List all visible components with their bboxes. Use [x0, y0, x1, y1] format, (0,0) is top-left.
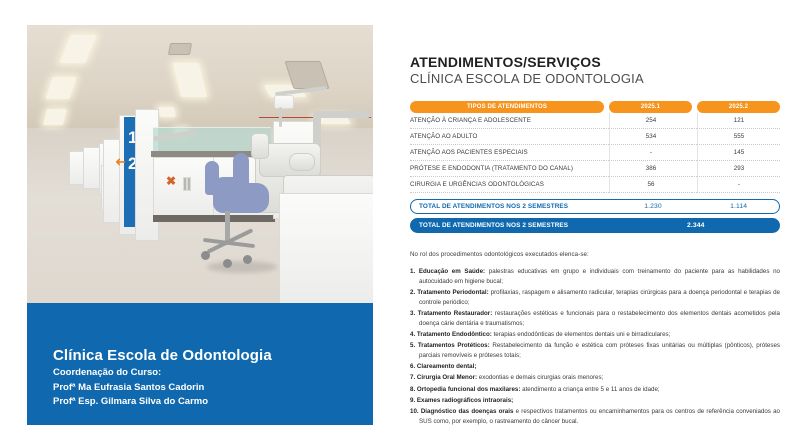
column-header-2025-1: 2025.1 [609, 101, 692, 113]
clinic-name: Clínica Escola de Odontologia [53, 347, 373, 364]
list-item-term: Tratamentos Protéticos: [418, 342, 490, 349]
coordinator-name-2: Profª Esp. Gilmara Silva do Carmo [53, 395, 373, 409]
list-item: 3. Tratamento Restaurador: restaurações … [410, 309, 780, 329]
list-item-term: Exames radiográficos intraorais; [417, 397, 513, 404]
list-item: 9. Exames radiográficos intraorais; [410, 396, 780, 406]
row-label: ATENÇÃO À CRIANÇA E ADOLESCENTE [410, 113, 604, 129]
list-item-number: 8. [410, 386, 415, 393]
left-panel: 1 ➜ 2 ➜ ✖ [27, 25, 373, 425]
procedures-intro: No rol dos procedimentos odontológicos e… [410, 251, 780, 258]
column-header-types-label: TIPOS DE ATENDIMENTOS [410, 101, 604, 113]
row-label: PRÓTESE E ENDODONTIA (TRATAMENTO DO CANA… [410, 161, 604, 177]
row-value-2025-1: 254 [609, 113, 692, 129]
photo-dental-chair [251, 133, 269, 159]
photo-chair-rail [313, 111, 371, 118]
list-item-number: 3. [410, 310, 415, 317]
photo-ceiling-vent [168, 43, 192, 55]
list-item: 8. Ortopedia funcional dos maxilares: at… [410, 385, 780, 395]
coordination-label: Coordenação do Curso: [53, 367, 373, 378]
procedures-list: 1. Educação em Saúde: palestras educativ… [410, 267, 780, 427]
grand-total-row: TOTAL DE ATENDIMENTOS NOS 2 SEMESTRES 2.… [410, 218, 780, 233]
photo-ceiling-lamp [43, 109, 67, 125]
page-title: ATENDIMENTOS/SERVIÇOS [410, 54, 780, 70]
table-row: ATENÇÃO AOS PACIENTES ESPECIAIS - 145 [410, 145, 780, 161]
page-subtitle: CLÍNICA ESCOLA DE ODONTOLOGIA [410, 71, 780, 86]
subtotal-value-2025-1: 1.230 [613, 203, 694, 210]
column-header-2025-2: 2025.2 [697, 101, 780, 113]
list-item: 4. Tratamento Endodôntico: terapias endo… [410, 330, 780, 340]
list-item-number: 10. [410, 408, 419, 415]
services-table: TIPOS DE ATENDIMENTOS 2025.1 2025.2 ATEN… [410, 101, 780, 193]
list-item-term: Clareamento dental; [417, 363, 476, 370]
photo-arrow-left-icon: ➜ [115, 155, 126, 168]
subtotal-value-2025-2: 1.114 [698, 203, 779, 210]
list-item: 6. Clareamento dental; [410, 362, 780, 372]
clinic-photo: 1 ➜ 2 ➜ ✖ [27, 25, 373, 303]
row-value-2025-1: - [609, 145, 692, 161]
table-row: ATENÇÃO AO ADULTO 534 555 [410, 129, 780, 145]
column-header-types: TIPOS DE ATENDIMENTOS [410, 101, 604, 113]
grand-total-value: 2.344 [613, 222, 779, 229]
list-item-number: 4. [410, 331, 415, 338]
photo-stool-seat [227, 183, 269, 213]
photo-dental-unit [289, 153, 315, 171]
table-row: ATENÇÃO À CRIANÇA E ADOLESCENTE 254 121 [410, 113, 780, 129]
list-item: 7. Cirurgia Oral Menor: exodontias e dem… [410, 373, 780, 383]
clinic-caption-block: Clínica Escola de Odontologia Coordenaçã… [27, 303, 373, 425]
list-item-text: terapias endodônticas de elementos denta… [492, 331, 671, 338]
row-value-2025-2: 555 [697, 129, 780, 145]
photo-cabinet [279, 193, 373, 303]
list-item-term: Tratamento Endodôntico: [417, 331, 492, 338]
row-label: CIRURGIA E URGÊNCIAS ODONTOLÓGICAS [410, 177, 604, 193]
grand-total-label: TOTAL DE ATENDIMENTOS NOS 2 SEMESTRES [411, 222, 608, 229]
row-value-2025-1: 386 [609, 161, 692, 177]
list-item: 2. Tratamento Periodontal: profilaxias, … [410, 288, 780, 308]
coordinator-name-1: Profª Ma Eufrasia Santos Cadorin [53, 381, 373, 395]
list-item-text: atendimento a criança entre 5 e 11 anos … [520, 386, 659, 393]
list-item-number: 5. [410, 342, 415, 349]
row-value-2025-2: 293 [697, 161, 780, 177]
list-item-term: Educação em Saúde: [419, 268, 485, 275]
row-value-2025-1: 534 [609, 129, 692, 145]
row-value-2025-2: 145 [697, 145, 780, 161]
photo-stool-wheel [201, 251, 210, 260]
photo-ceiling-lamp [158, 107, 176, 117]
subtotal-label: TOTAL DE ATENDIMENTOS NOS 2 SEMESTRES [411, 203, 608, 210]
subtotal-row: TOTAL DE ATENDIMENTOS NOS 2 SEMESTRES 1.… [410, 199, 780, 214]
list-item-term: Tratamento Periodontal: [417, 289, 488, 296]
photo-overhead-light-post [279, 107, 282, 127]
list-item-number: 1. [410, 268, 415, 275]
photo-stool-wheel [223, 259, 232, 268]
column-header-2025-2-label: 2025.2 [697, 101, 780, 113]
right-content: ATENDIMENTOS/SERVIÇOS CLÍNICA ESCOLA DE … [410, 54, 780, 428]
list-item-text: exodontias e demais cirurgias orais meno… [477, 374, 603, 381]
list-item-number: 2. [410, 289, 415, 296]
list-item: 5. Tratamentos Protéticos: Restabelecime… [410, 341, 780, 361]
list-item-number: 7. [410, 374, 415, 381]
table-row: PRÓTESE E ENDODONTIA (TRATAMENTO DO CANA… [410, 161, 780, 177]
list-item: 1. Educação em Saúde: palestras educativ… [410, 267, 780, 287]
photo-warning-x-icon: ✖ [166, 175, 176, 187]
photo-toe-kick [153, 215, 275, 222]
column-header-2025-1-label: 2025.1 [609, 101, 692, 113]
photo-overhead-light-head [274, 95, 294, 109]
photo-cabinet-handle [187, 177, 191, 191]
list-item-term: Diagnóstico das doenças orais [421, 408, 514, 415]
list-item-number: 6. [410, 363, 415, 370]
list-item-number: 9. [410, 397, 415, 404]
list-item-term: Tratamento Restaurador: [418, 310, 492, 317]
list-item-term: Cirurgia Oral Menor: [417, 374, 477, 381]
row-value-2025-1: 56 [609, 177, 692, 193]
list-item-term: Ortopedia funcional dos maxilares: [417, 386, 521, 393]
row-value-2025-2: - [697, 177, 780, 193]
photo-stool-shadow [207, 261, 277, 273]
row-label: ATENÇÃO AO ADULTO [410, 129, 604, 145]
photo-stool-wheel [243, 255, 252, 264]
table-row: CIRURGIA E URGÊNCIAS ODONTOLÓGICAS 56 - [410, 177, 780, 193]
table-header-row: TIPOS DE ATENDIMENTOS 2025.1 2025.2 [410, 101, 780, 113]
row-label: ATENÇÃO AOS PACIENTES ESPECIAIS [410, 145, 604, 161]
list-item: 10. Diagnóstico das doenças orais e resp… [410, 407, 780, 427]
row-value-2025-2: 121 [697, 113, 780, 129]
